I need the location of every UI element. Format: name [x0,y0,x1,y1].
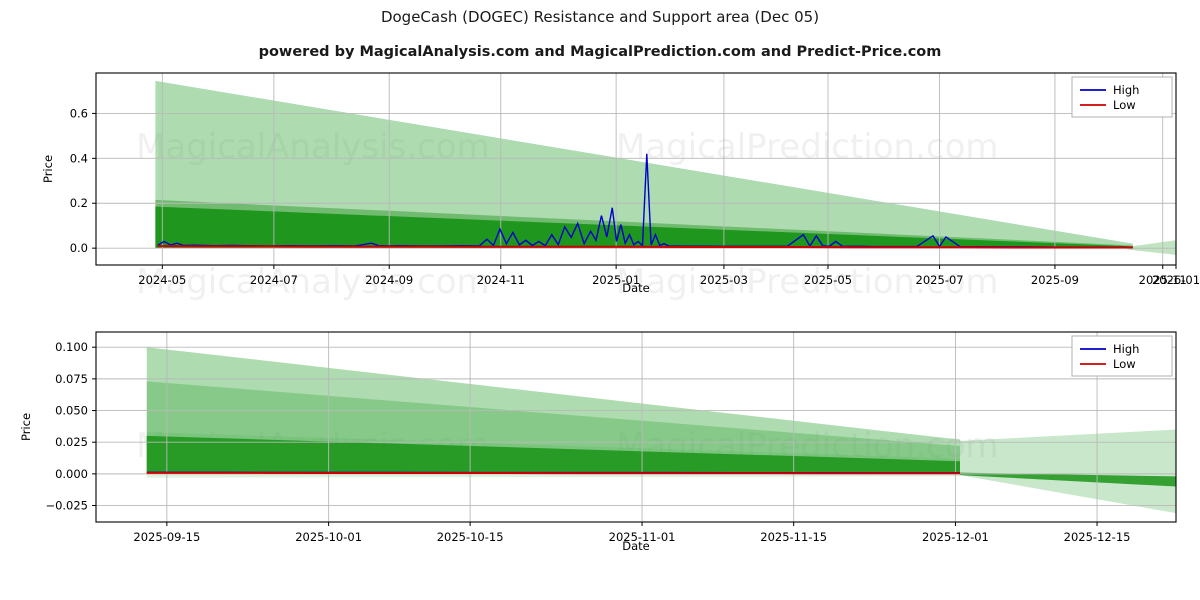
y-tick-label: 0.025 [55,435,88,449]
y-tick-label: 0.2 [70,196,88,210]
chart-panel-bottom: MagicalAnalysis.comMagicalPrediction.com… [19,332,1176,553]
watermark-text: MagicalPrediction.com [616,127,999,167]
y-tick-label: 0.075 [55,372,88,386]
x-tick-label: 2025-12-01 [922,530,989,544]
x-tick-label: 2025-10-15 [437,530,504,544]
x-tick-label: 2025-09 [1031,273,1079,287]
y-tick-label: 0.4 [70,151,88,165]
chart-page: DogeCash (DOGEC) Resistance and Support … [0,0,1200,600]
y-axis-bottom: −0.0250.0000.0250.0500.0750.100Price [19,340,96,512]
outer-watermark-layer: MagicalAnalysis.comMagicalPrediction.com [136,262,999,302]
x-tick-label: 2025-11-15 [760,530,827,544]
x-tick-label: 2025-12-15 [1064,530,1131,544]
chart-panel-top: MagicalAnalysis.comMagicalPrediction.com… [41,73,1200,304]
legend-label-high: High [1113,342,1139,356]
watermark-text: MagicalPrediction.com [616,262,999,302]
y-tick-label: 0.6 [70,106,88,120]
y-tick-label: −0.025 [45,499,88,513]
series-layer-bottom [147,472,960,473]
charts-canvas: MagicalAnalysis.comMagicalPrediction.com… [0,0,1200,600]
y-tick-label: 0.050 [55,404,88,418]
y-axis-top: 0.00.20.40.6Price [41,106,96,255]
legend-bottom: HighLow [1072,336,1172,376]
legend-label-low: Low [1113,98,1136,112]
y-axis-title: Price [19,413,33,441]
legend-top: HighLow [1072,77,1172,117]
y-axis-title: Price [41,155,55,183]
watermark-text: MagicalAnalysis.com [136,262,490,302]
x-axis-bottom: 2025-09-152025-10-012025-10-152025-11-01… [133,522,1130,553]
x-tick-label: 2026-01 [1152,273,1200,287]
y-tick-label: 0.000 [55,467,88,481]
legend-label-high: High [1113,83,1139,97]
x-tick-label: 2025-10-01 [295,530,362,544]
x-tick-label: 2025-09-15 [133,530,200,544]
x-axis-title: Date [622,539,650,553]
y-tick-label: 0.100 [55,340,88,354]
legend-label-low: Low [1113,357,1136,371]
y-tick-label: 0.0 [70,241,88,255]
